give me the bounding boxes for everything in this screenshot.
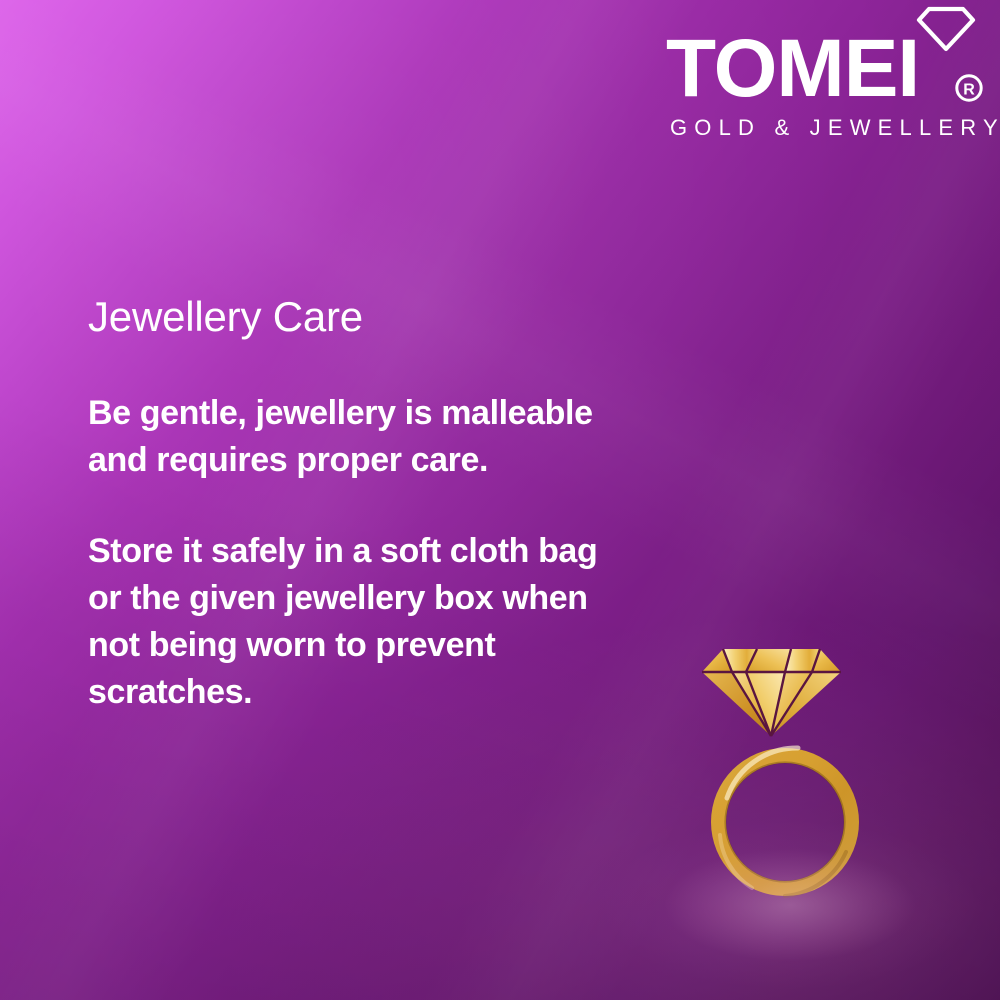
- gold-diamond-ring-illustration: [660, 620, 910, 960]
- poster-canvas: TOMEI R GOLD & JEWELLERY Jewellery Care …: [0, 0, 1000, 1000]
- copy-block: Jewellery Care Be gentle, jewellery is m…: [88, 292, 648, 716]
- svg-text:R: R: [963, 82, 975, 99]
- body-paragraph-2: Store it safely in a soft cloth bag or t…: [88, 528, 648, 716]
- body-paragraph-1: Be gentle, jewellery is malleable and re…: [88, 390, 648, 484]
- gold-ring-band: [660, 620, 910, 960]
- diamond-outline-icon: [913, 6, 979, 52]
- ring-svg: [660, 620, 910, 960]
- page-title: Jewellery Care: [88, 292, 648, 342]
- logo-tagline: GOLD & JEWELLERY: [670, 116, 1000, 140]
- registered-trademark-icon: R: [954, 73, 984, 103]
- tomei-logo: TOMEI R GOLD & JEWELLERY: [666, 18, 986, 140]
- logo-wordmark: TOMEI: [666, 28, 919, 110]
